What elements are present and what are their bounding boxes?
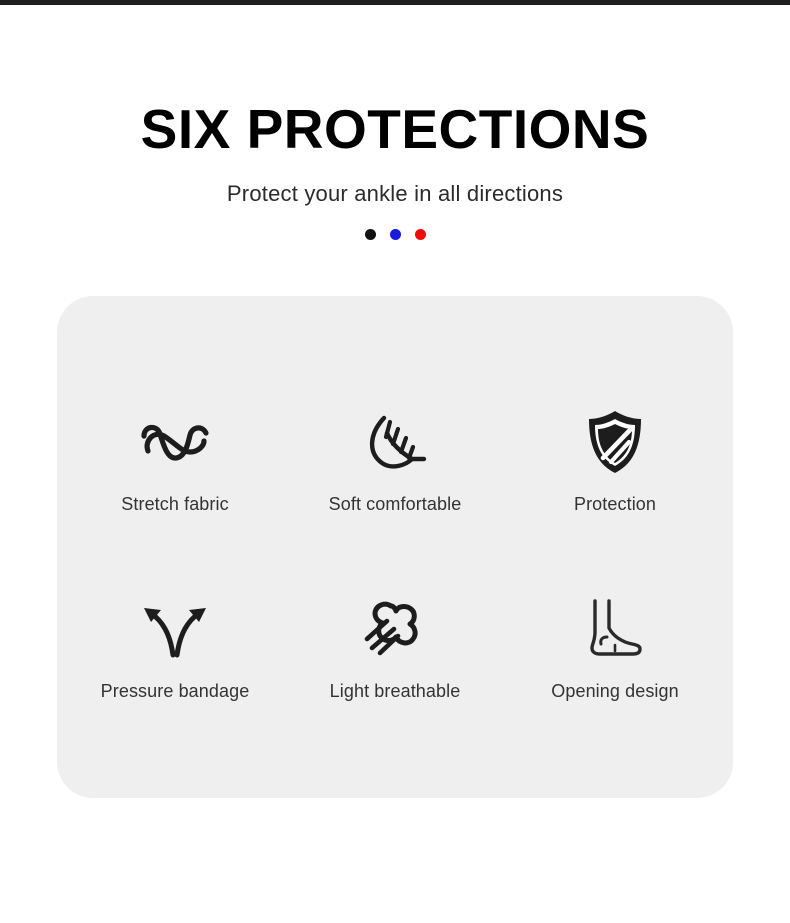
feature-stretch-fabric: Stretch fabric: [65, 406, 285, 515]
dot-red: [415, 229, 426, 240]
promo-page: SIX PROTECTIONS Protect your ankle in al…: [0, 5, 790, 798]
features-card: Stretch fabric Soft comfortable: [57, 296, 733, 798]
feature-label: Opening design: [551, 681, 679, 702]
feature-label: Protection: [574, 494, 656, 515]
feature-opening-design: Opening design: [505, 593, 725, 702]
feature-label: Light breathable: [330, 681, 461, 702]
color-dot-group: [0, 229, 790, 240]
stretch-spring-icon: [138, 406, 212, 478]
shield-icon: [586, 406, 644, 478]
page-title: SIX PROTECTIONS: [0, 101, 790, 159]
feature-soft-comfortable: Soft comfortable: [285, 406, 505, 515]
feature-pressure-bandage: Pressure bandage: [65, 593, 285, 702]
feature-label: Soft comfortable: [329, 494, 462, 515]
crossed-arrows-icon: [138, 593, 212, 665]
feature-protection: Protection: [505, 406, 725, 515]
header-section: SIX PROTECTIONS Protect your ankle in al…: [0, 5, 790, 240]
page-subtitle: Protect your ankle in all directions: [0, 181, 790, 207]
dot-black: [365, 229, 376, 240]
feature-light-breathable: Light breathable: [285, 593, 505, 702]
feature-label: Stretch fabric: [121, 494, 228, 515]
foot-ankle-icon: [584, 593, 646, 665]
dot-blue: [390, 229, 401, 240]
wind-cloud-icon: [360, 593, 430, 665]
feature-label: Pressure bandage: [101, 681, 250, 702]
features-row-top: Stretch fabric Soft comfortable: [65, 406, 725, 515]
feather-icon: [362, 406, 428, 478]
features-row-bottom: Pressure bandage Light breathable: [65, 593, 725, 702]
